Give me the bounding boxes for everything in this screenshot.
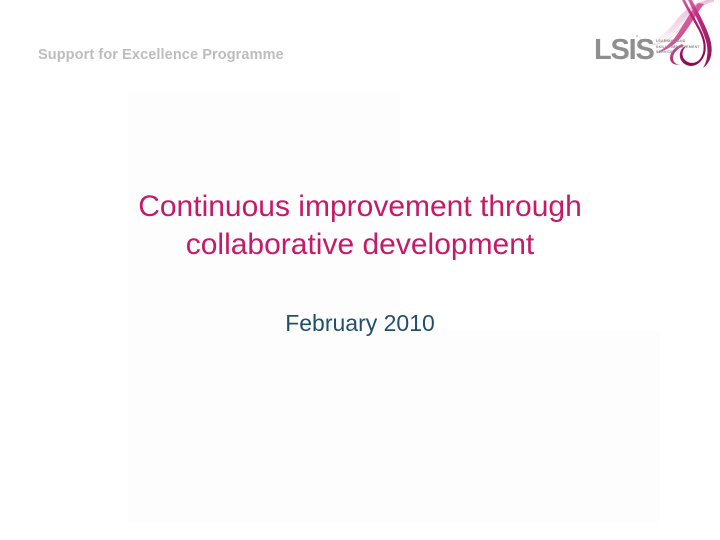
lsis-tagline: Learning and Skills Improvement Service [656,39,700,56]
programme-header-label: Support for Excellence Programme [38,47,284,63]
background-panel-right [400,330,660,522]
slide-title: Continuous improvement through collabora… [60,188,660,264]
lsis-logo: LSIS Learning and Skills Improvement Ser… [586,0,720,92]
slide-title-line-1: Continuous improvement through [60,188,660,226]
lsis-wordmark: LSIS [594,36,654,65]
presentation-slide: Support for Excellence Programme [0,0,720,540]
slide-title-line-2: collaborative development [60,226,660,264]
background-panel-left [128,92,400,522]
slide-subtitle-date: February 2010 [60,308,660,338]
